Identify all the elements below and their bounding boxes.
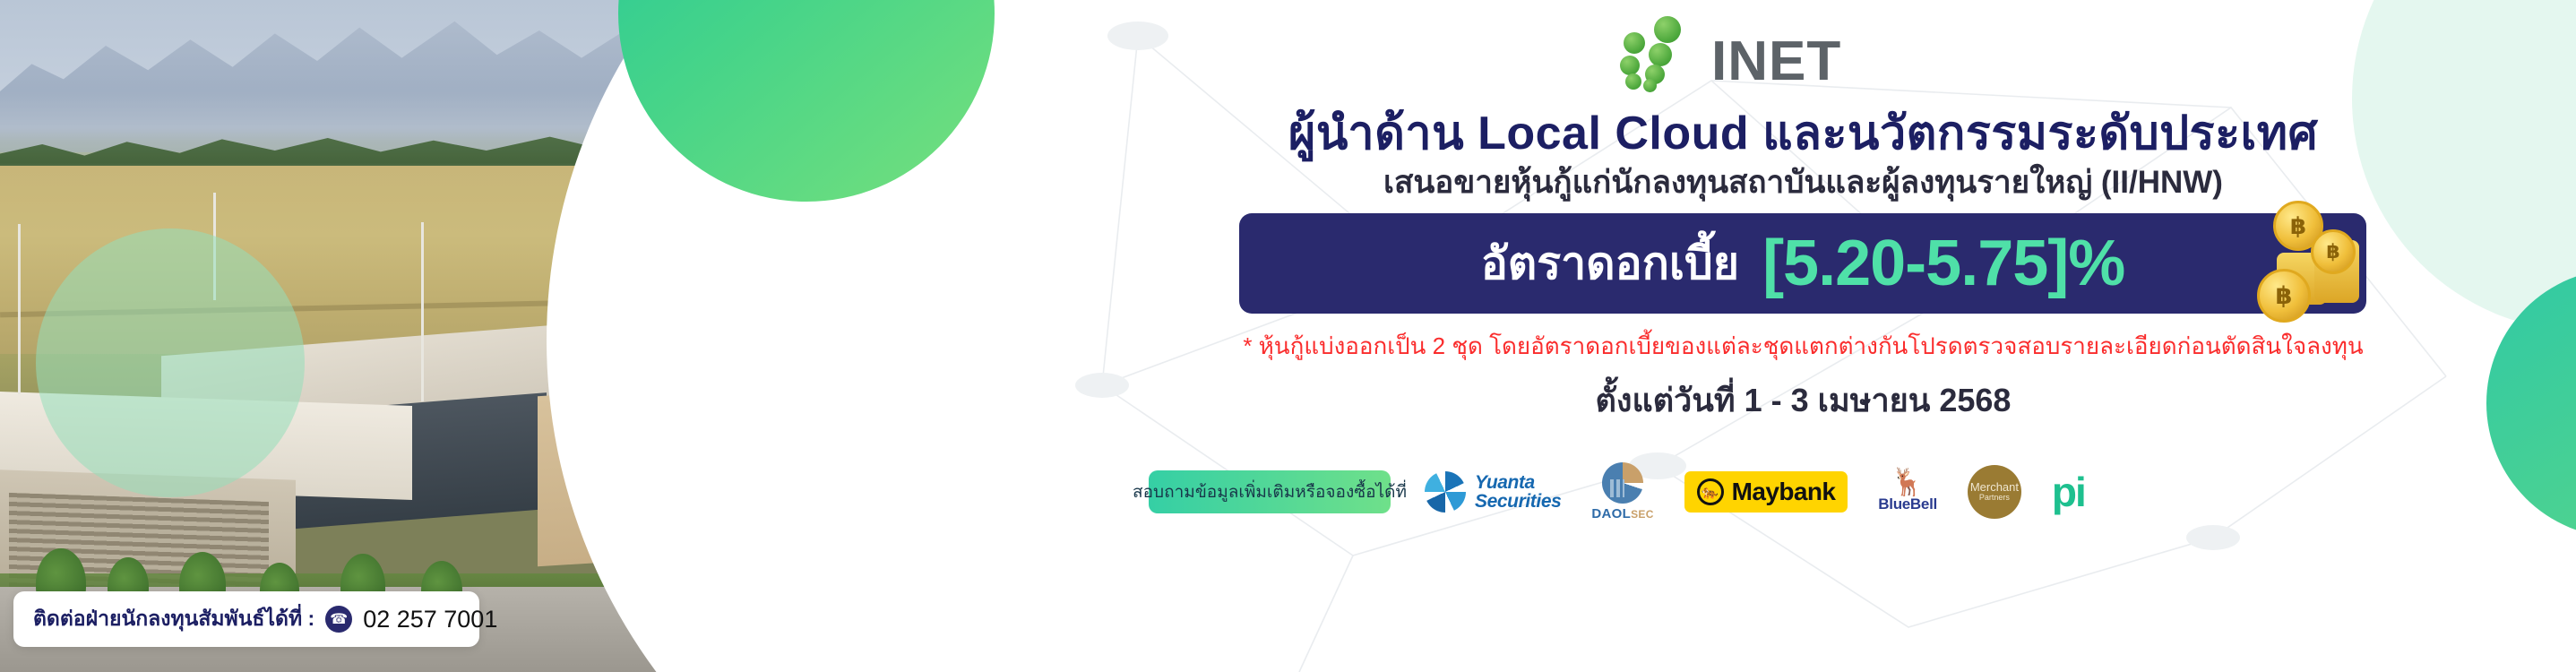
daol-label: DAOL [1591,506,1631,521]
yuanta-line2: Securities [1475,491,1561,512]
phone-icon: ☎ [325,606,352,633]
broker-logo-merchant[interactable]: Merchant Partners [1968,465,2021,519]
inet-wordmark: INET [1711,34,1841,90]
yuanta-star-icon [1425,471,1466,513]
bluebell-deer-icon: 🦌 [1891,470,1924,496]
broker-logo-yuanta[interactable]: Yuanta Securities [1425,471,1561,513]
inet-debenture-banner: INET ผู้นำด้าน Local Cloud และนวัตกรรมระ… [0,0,2576,672]
interest-rate-label: อัตราดอกเบี้ย [1481,228,1739,299]
pi-wordmark-icon: pi [2052,476,2085,509]
decor-circle-mint-left [36,228,305,497]
disclaimer-text: * หุ้นกู้แบ่งออกเป็น 2 ชุด โดยอัตราดอกเบ… [1030,328,2576,365]
broker-logo-daol[interactable]: DAOLSEC [1591,462,1653,521]
inet-logo: INET [1604,13,1953,88]
offer-date-range: ตั้งแต่วันที่ 1 - 3 เมษายน 2568 [1030,375,2576,426]
yuanta-line1: Yuanta [1475,472,1535,493]
green-bubbles-icon [1604,13,1729,88]
broker-logo-maybank[interactable]: 🐅 Maybank [1684,471,1848,513]
gold-coin-stack-icon: ฿ ฿ ฿ [2221,186,2374,330]
broker-logo-pi[interactable]: pi [2052,476,2085,509]
merchant-line1: Merchant [1970,481,2019,494]
daol-pie-icon [1602,462,1643,504]
cta-and-brokers-row: สอบถามข้อมูลเพิ่มเติมหรือจองซื้อได้ที่ Y… [1030,452,2576,532]
interest-rate-value: [5.20-5.75]% [1762,227,2124,300]
contact-label: ติดต่อฝ่ายนักลงทุนสัมพันธ์ได้ที่ : [33,603,314,635]
bluebell-label: BlueBell [1878,495,1937,513]
inquire-button[interactable]: สอบถามข้อมูลเพิ่มเติมหรือจองซื้อได้ที่ [1149,470,1391,513]
broker-logo-bluebell[interactable]: 🦌 BlueBell [1878,470,1937,514]
investor-relations-contact: ติดต่อฝ่ายนักลงทุนสัมพันธ์ได้ที่ : ☎ 02 … [13,591,479,647]
merchant-line2: Partners [1979,494,2010,502]
broker-logo-list: Yuanta Securities DAOLSEC 🐅 Maybank 🦌 Bl… [1425,462,2085,521]
interest-rate-box: อัตราดอกเบี้ย [5.20-5.75]% ฿ ฿ ฿ [1239,213,2366,314]
contact-phone-number[interactable]: 02 257 7001 [363,606,497,633]
maybank-tiger-icon: 🐅 [1697,478,1724,505]
maybank-label: Maybank [1732,478,1836,506]
content-column: INET ผู้นำด้าน Local Cloud และนวัตกรรมระ… [1030,0,2576,672]
daol-suffix: SEC [1631,508,1654,521]
